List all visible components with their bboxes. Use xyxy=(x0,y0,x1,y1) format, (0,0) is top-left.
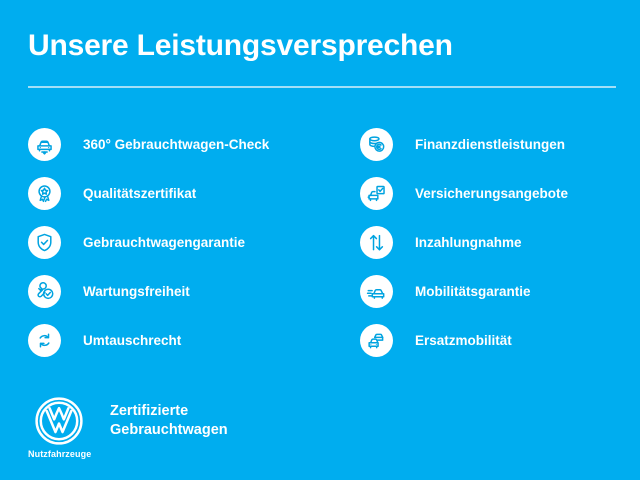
brand-tagline-line-2: Gebrauchtwagen xyxy=(110,421,228,440)
promise-item-ersatzmobilitaet: Ersatzmobilität xyxy=(360,316,640,365)
brand-tagline: Zertifizierte Gebrauchtwagen xyxy=(110,396,228,440)
promise-item-umtauschrecht: Umtauschrecht xyxy=(28,316,318,365)
promises-grid: 360° Gebrauchtwagen-Check Qualitätszerti… xyxy=(0,120,640,365)
brand-subtitle: Nutzfahrzeuge xyxy=(28,449,90,460)
promise-item-wartungsfreiheit: Wartungsfreiheit xyxy=(28,267,318,316)
coins-euro-icon xyxy=(360,128,393,161)
promise-label: Umtauschrecht xyxy=(83,333,181,349)
two-cars-icon xyxy=(360,324,393,357)
promise-label: Gebrauchtwagengarantie xyxy=(83,235,245,251)
promise-label: Mobilitätsgarantie xyxy=(415,284,531,300)
moving-van-icon xyxy=(360,275,393,308)
promise-item-versicherungsangebote: Versicherungsangebote xyxy=(360,169,640,218)
promise-label: Ersatzmobilität xyxy=(415,333,512,349)
brand-mark: Nutzfahrzeuge xyxy=(28,396,90,460)
promise-item-finanzdienstleistungen: Finanzdienstleistungen xyxy=(360,120,640,169)
header-divider xyxy=(28,86,616,88)
promise-label: Versicherungsangebote xyxy=(415,186,568,202)
promise-label: Inzahlungnahme xyxy=(415,235,522,251)
brand-tagline-line-1: Zertifizierte xyxy=(110,402,228,421)
exchange-arrows-icon xyxy=(28,324,61,357)
wrench-check-icon xyxy=(28,275,61,308)
promises-right-column: Finanzdienstleistungen Versicherungsange… xyxy=(360,120,640,365)
promise-item-mobilitaetsgarantie: Mobilitätsgarantie xyxy=(360,267,640,316)
promise-label: Finanzdienstleistungen xyxy=(415,137,565,153)
promise-item-gebrauchtwagengarantie: Gebrauchtwagengarantie xyxy=(28,218,318,267)
car-inspection-icon xyxy=(28,128,61,161)
promise-label: Wartungsfreiheit xyxy=(83,284,190,300)
promises-left-column: 360° Gebrauchtwagen-Check Qualitätszerti… xyxy=(28,120,318,365)
shield-check-icon xyxy=(28,226,61,259)
promise-label: 360° Gebrauchtwagen-Check xyxy=(83,137,269,153)
volkswagen-logo-icon xyxy=(34,396,84,446)
header: Unsere Leistungsversprechen xyxy=(28,28,616,64)
slide-root: Unsere Leistungsversprechen xyxy=(0,0,640,480)
promise-item-qualitaetszertifikat: Qualitätszertifikat xyxy=(28,169,318,218)
car-clipboard-icon xyxy=(360,177,393,210)
promise-label: Qualitätszertifikat xyxy=(83,186,196,202)
up-down-arrows-icon xyxy=(360,226,393,259)
footer-brand: Nutzfahrzeuge Zertifizierte Gebrauchtwag… xyxy=(28,396,228,460)
quality-seal-icon xyxy=(28,177,61,210)
promise-item-gebrauchtwagen-check: 360° Gebrauchtwagen-Check xyxy=(28,120,318,169)
promise-item-inzahlungnahme: Inzahlungnahme xyxy=(360,218,640,267)
page-title: Unsere Leistungsversprechen xyxy=(28,28,616,64)
